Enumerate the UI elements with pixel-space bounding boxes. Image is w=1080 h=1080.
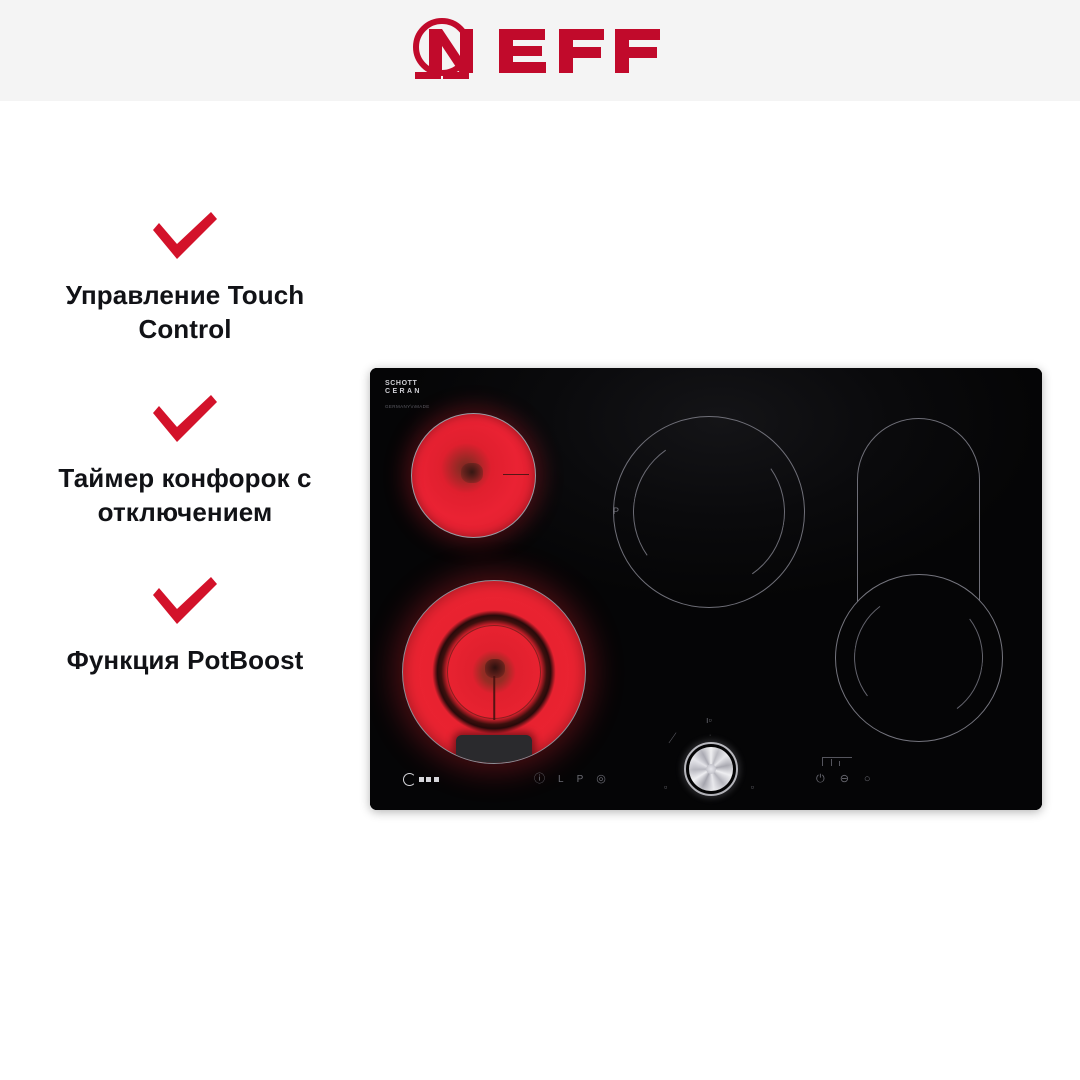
- burner-top-left[interactable]: [411, 413, 536, 538]
- burner-p-marking: P: [613, 506, 619, 516]
- bar: [831, 759, 832, 766]
- check-icon: [149, 393, 221, 445]
- ceran-brand-sub: GERMANY\nMADE: [385, 404, 430, 411]
- bar: [822, 757, 823, 766]
- knob-label-right-lower: ▫: [751, 783, 754, 792]
- bar: [839, 761, 840, 766]
- cooktop-product-image: SCHOTT CERAN GERMANY\nMADE P ⓘ L: [370, 368, 1042, 810]
- timer-icon[interactable]: ⓘ: [534, 774, 545, 785]
- logo-block: [426, 777, 431, 783]
- feature-list: Управление Touch Control Таймер конфорок…: [0, 210, 370, 706]
- feature-item: Управление Touch Control: [0, 210, 370, 347]
- rotary-control-knob[interactable]: ı▫ · ⸺ ▫ ▫: [662, 716, 756, 802]
- feature-label: Управление Touch Control: [20, 278, 350, 347]
- lock-icon[interactable]: L: [558, 775, 564, 785]
- check-icon: [149, 210, 221, 262]
- control-panel: ⓘ L P ◎ ı▫ · ⸺ ▫ ▫ ⏻ ⊖ ○: [370, 714, 1042, 810]
- neff-panel-logo: [403, 773, 439, 786]
- knob-label-top: ı▫: [706, 716, 712, 725]
- ceran-brand-line1: SCHOTT: [385, 380, 430, 387]
- burner-spoke: [503, 474, 529, 475]
- burner-inner-ring: [846, 585, 992, 731]
- feature-label: Таймер конфорок с отключением: [20, 461, 350, 530]
- level-indicator-bars: [822, 757, 858, 766]
- ceran-brand-line2: CERAN: [385, 388, 430, 395]
- bar: [822, 757, 852, 758]
- feature-item: Таймер конфорок с отключением: [0, 393, 370, 530]
- burner-inner-ring: [621, 424, 797, 600]
- burner-hub: [485, 659, 505, 678]
- schott-ceran-branding: SCHOTT CERAN GERMANY\nMADE: [385, 380, 430, 411]
- feature-label: Функция PotBoost: [67, 643, 304, 677]
- zone-icon[interactable]: ○: [864, 774, 871, 785]
- header-band: [0, 0, 1080, 101]
- touch-controls-right[interactable]: ⏻ ⊖ ○: [816, 774, 871, 785]
- clock-icon[interactable]: ◎: [596, 774, 606, 785]
- logo-block: [434, 777, 439, 783]
- power-icon[interactable]: ⏻: [816, 774, 825, 785]
- neff-omega-logo: [395, 15, 685, 87]
- logo-block: [419, 777, 424, 783]
- knob-dial[interactable]: [689, 747, 733, 791]
- minus-icon[interactable]: ⊖: [840, 774, 849, 785]
- knob-label-dot: ·: [709, 732, 711, 739]
- knob-label-left-lower: ▫: [664, 783, 667, 792]
- burner-center[interactable]: P: [613, 416, 805, 608]
- feature-item: Функция PotBoost: [0, 575, 370, 677]
- knob-label-left-upper: ⸺: [666, 730, 680, 746]
- omega-icon: [403, 773, 416, 786]
- check-icon: [149, 575, 221, 627]
- touch-controls-left[interactable]: ⓘ L P ◎: [534, 774, 606, 785]
- potboost-icon[interactable]: P: [577, 775, 584, 785]
